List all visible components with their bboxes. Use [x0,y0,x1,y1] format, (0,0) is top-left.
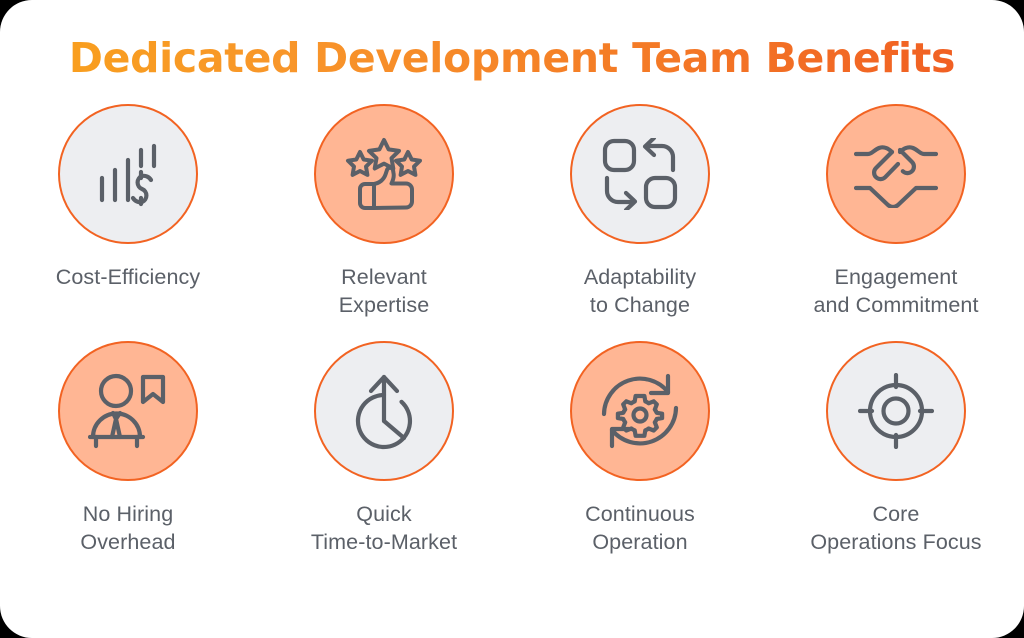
benefit-label: Quick Time-to-Market [311,500,457,556]
bar-chart-dollar-icon [90,136,166,212]
benefits-grid: Cost-Efficiency Relevant Expe [0,104,1024,556]
benefit-icon-circle [570,341,710,481]
benefit-item-core-operations-focus: Core Operations Focus [768,341,1024,556]
gear-refresh-icon [600,372,680,450]
infographic-card: Dedicated Development Team Benefits [0,0,1024,638]
benefit-label: Relevant Expertise [339,263,430,319]
benefit-icon-circle [314,341,454,481]
clock-arrow-up-icon [347,371,421,451]
benefits-row-top: Cost-Efficiency Relevant Expe [0,104,1024,319]
benefit-icon-circle [826,104,966,244]
benefit-label: Continuous Operation [585,500,695,556]
thumbs-up-stars-icon [344,136,424,212]
benefit-item-relevant-expertise: Relevant Expertise [256,104,512,319]
benefit-icon-circle [58,341,198,481]
benefits-row-bottom: No Hiring Overhead Quick Time-to-Market [0,341,1024,556]
benefit-label: Engagement and Commitment [813,263,978,319]
benefit-item-engagement-commitment: Engagement and Commitment [768,104,1024,319]
swap-arrows-icon [602,138,678,210]
benefit-item-no-hiring-overhead: No Hiring Overhead [0,341,256,556]
benefit-label: Adaptability to Change [584,263,696,319]
benefit-item-adaptability-to-change: Adaptability to Change [512,104,768,319]
benefit-icon-circle [570,104,710,244]
page-title: Dedicated Development Team Benefits [0,32,1024,84]
benefit-label: No Hiring Overhead [80,500,175,556]
benefit-item-continuous-operation: Continuous Operation [512,341,768,556]
benefit-label: Core Operations Focus [810,500,981,556]
person-badge-icon [88,373,168,449]
benefit-icon-circle [314,104,454,244]
benefit-item-cost-efficiency: Cost-Efficiency [0,104,256,319]
crosshair-target-icon [858,373,934,449]
benefit-icon-circle [826,341,966,481]
handshake-icon [854,140,938,208]
benefit-label: Cost-Efficiency [56,263,200,291]
benefit-item-quick-time-to-market: Quick Time-to-Market [256,341,512,556]
benefit-icon-circle [58,104,198,244]
